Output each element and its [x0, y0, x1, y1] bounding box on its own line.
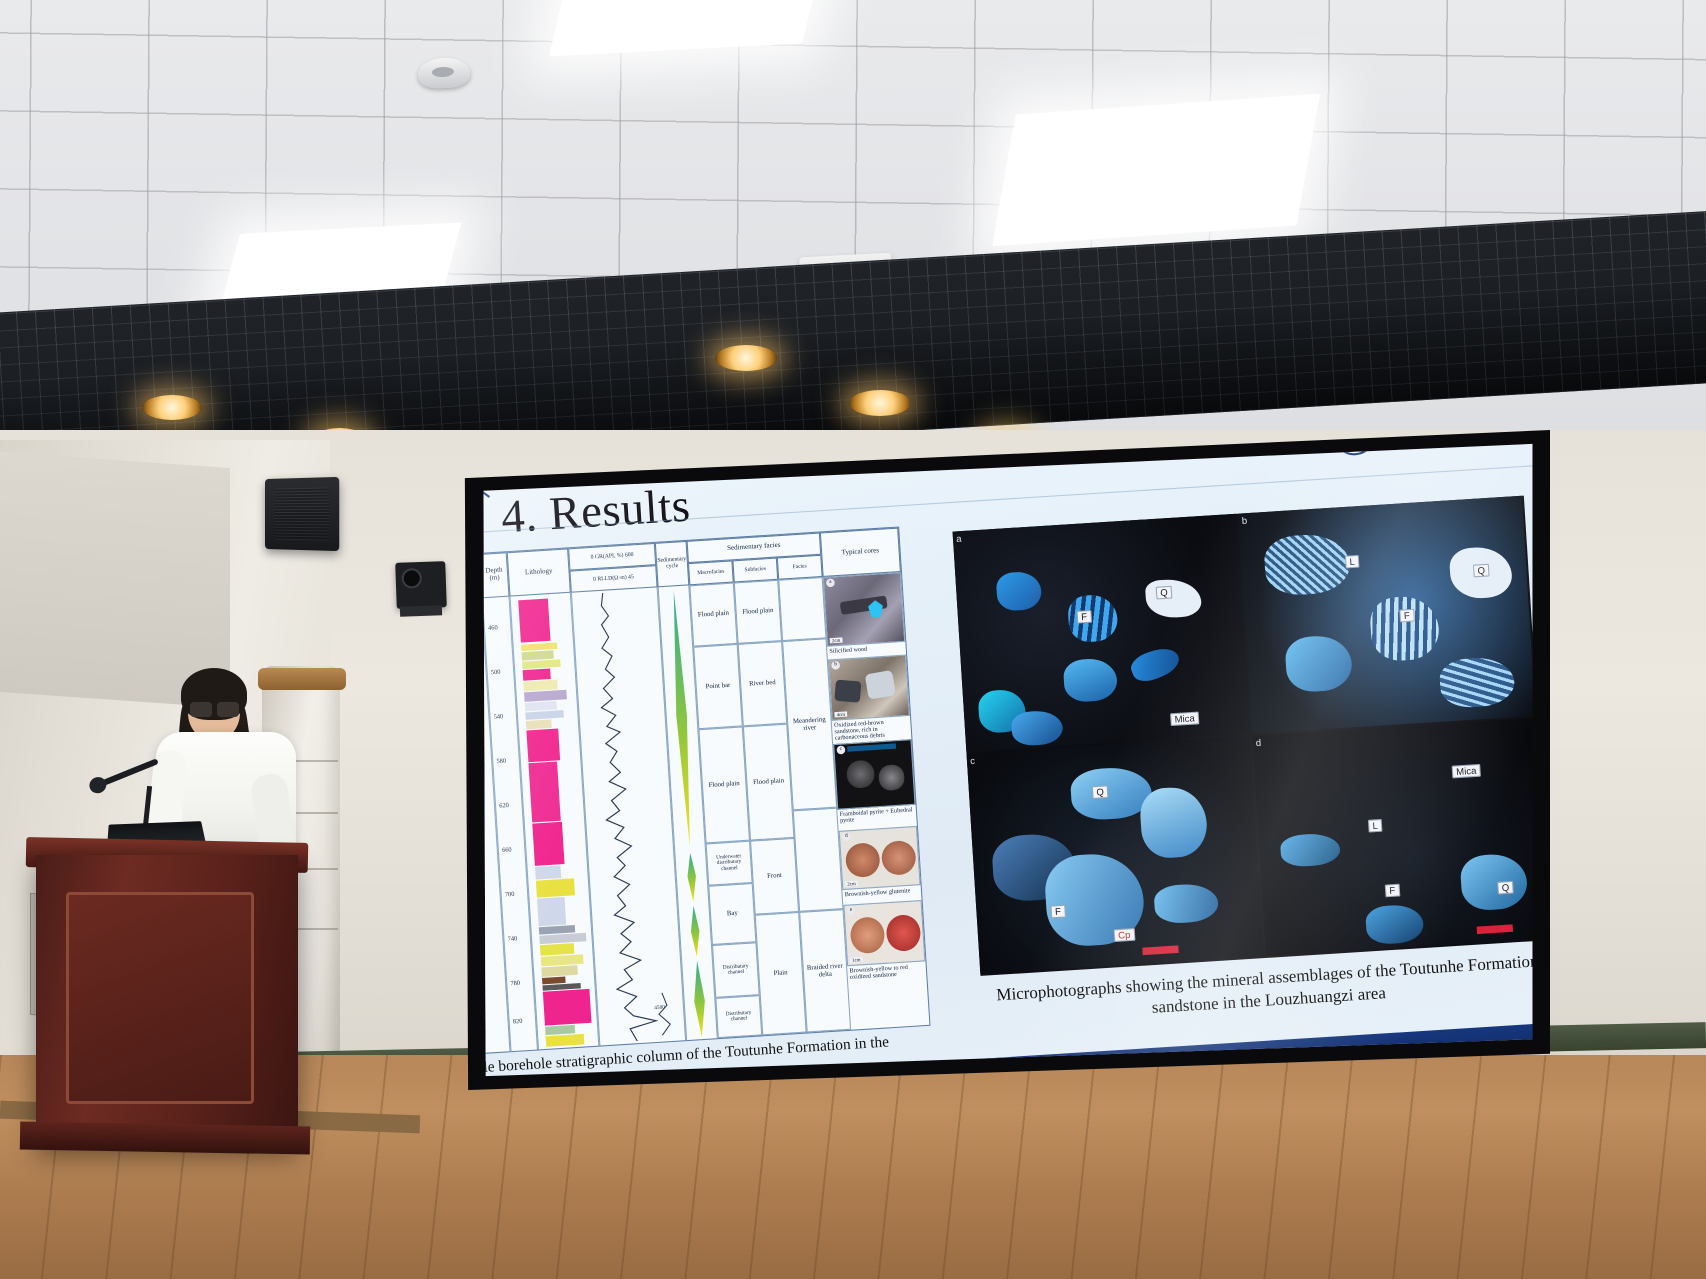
header-facies: Facies — [777, 555, 823, 580]
macrofacies-cell: Point bar — [693, 644, 743, 729]
depth-tick: 700 — [505, 892, 515, 899]
header-typical-cores: Typical cores — [820, 528, 901, 577]
subfacies-cell: Flood plain — [734, 580, 782, 644]
label-Cp: Cp — [1114, 928, 1135, 942]
label-Q: Q — [1473, 564, 1490, 578]
mineral-grain-quartz — [1145, 578, 1202, 620]
core-photo-e: e 1cm — [843, 900, 925, 966]
microphoto-a: a F Q Mica — [953, 514, 1250, 752]
panel-tag: c — [970, 755, 975, 766]
camera-mount-arm — [400, 605, 442, 616]
facies-cell: Braided river delta — [799, 909, 851, 1032]
scale-bar-label: 2cm — [845, 881, 858, 887]
core-caption-a: Silicified wood — [829, 646, 867, 655]
mineral-grain-feldspar — [1369, 595, 1441, 663]
scale-bar — [1477, 924, 1513, 934]
wall-speaker — [265, 477, 339, 551]
lithology-bed — [518, 598, 550, 642]
depth-tick: 780 — [510, 980, 520, 987]
slide-content: 4. Results 中国石油大学 CHINA UNIVERSITY OF PE… — [396, 388, 1598, 1159]
microphoto-b: b L F Q — [1238, 496, 1535, 734]
lecture-hall-photo: 4. Results 中国石油大学 CHINA UNIVERSITY OF PE… — [0, 0, 1706, 1279]
core-plug — [845, 842, 881, 878]
wall-camera — [395, 561, 447, 609]
core-tag: b — [831, 661, 840, 670]
depth-tick: 500 — [491, 669, 501, 676]
core-plug — [881, 840, 917, 876]
panel-tag: a — [956, 533, 962, 544]
depth-tick: 460 — [488, 625, 498, 632]
core-tag: a — [826, 578, 835, 587]
mineral-grain — [1063, 657, 1119, 703]
subfacies-cell: Flood plain — [743, 724, 795, 841]
mineral-grain — [1280, 832, 1341, 867]
mineral-grain — [1011, 710, 1064, 747]
macrofacies-cell: Underwater distributary channel — [706, 841, 753, 886]
macrofacies-cell: Distributary channel — [715, 995, 762, 1038]
mineral-grain — [1459, 852, 1528, 911]
label-F: F — [1050, 905, 1065, 919]
depth-tick: 740 — [508, 936, 518, 943]
glasses-icon — [190, 702, 238, 715]
depth-tick: 660 — [502, 847, 512, 854]
subfacies-cell: Front — [750, 838, 799, 915]
subfacies-cell: River bed — [738, 641, 788, 726]
panel-tag: d — [1255, 737, 1261, 748]
lithology-bed — [540, 943, 575, 956]
ceiling-downlight — [142, 395, 202, 420]
lithology-bed — [532, 822, 564, 866]
lithology-bed — [535, 865, 561, 879]
mineral-grain — [1153, 882, 1219, 924]
lithology-bed — [543, 989, 592, 1026]
left-wall-panel — [0, 452, 230, 708]
stratigraphic-column-figure: Formation Depth (m) Lithology 0 GR(API, … — [442, 526, 930, 1054]
mineral-grain — [1139, 786, 1209, 860]
ceiling-light-panel — [992, 94, 1320, 247]
mineral-grain — [996, 571, 1043, 612]
lithology-bed — [523, 668, 551, 680]
lithology-bed — [526, 728, 560, 762]
log-value-label: 4500 — [654, 1005, 665, 1011]
core-photo-a: a 2cm — [823, 572, 906, 647]
mineral-grain — [1128, 643, 1183, 687]
mineral-grain-feldspar — [1067, 594, 1119, 644]
core-plug — [849, 916, 885, 954]
lithology-bed — [528, 761, 560, 822]
depth-tick: 580 — [496, 758, 506, 765]
label-F: F — [1399, 609, 1414, 623]
header-lithology: Lithology — [507, 548, 571, 596]
slide-surface: 4. Results 中国石油大学 CHINA UNIVERSITY OF PE… — [455, 430, 1550, 1090]
macrofacies-cell: Flood plain — [689, 583, 737, 647]
core-plug — [885, 914, 921, 952]
macrofacies-cell: Flood plain — [698, 726, 750, 843]
macrofacies-cell: Distributary channel — [712, 942, 760, 998]
lithology-bed — [536, 878, 575, 897]
scale-bar-label: 2cm — [830, 637, 843, 643]
macrofacies-cell: Bay — [708, 883, 756, 945]
podium-front-panel — [66, 892, 254, 1104]
header-cycle: Sedimentary cycle — [655, 541, 690, 587]
facies-cell — [778, 577, 826, 641]
podium-base — [20, 1121, 310, 1154]
depth-tick: 620 — [499, 803, 509, 810]
core-caption-b: Oxidized red-brown sandstone, rich in ca… — [834, 718, 909, 742]
scale-bar — [1142, 945, 1178, 955]
depth-tick: 820 — [513, 1019, 523, 1026]
scale-bar-label: 1cm — [850, 957, 863, 963]
label-Mica: Mica — [1452, 764, 1481, 778]
depth-tick: 540 — [494, 714, 504, 721]
panel-tag: b — [1241, 515, 1247, 526]
mineral-grain-lithic — [1263, 532, 1351, 597]
core-caption-c: Framboidal pyrite + Euhedral pyrite — [840, 807, 915, 825]
lithology-bed — [526, 719, 552, 729]
core-caption-e: Brownish-yellow to red oxidized sandston… — [849, 964, 924, 982]
ceiling-downlight — [849, 390, 911, 416]
label-Q: Q — [1156, 586, 1173, 600]
pyrite-euhedral — [878, 764, 905, 791]
lithology-bed — [537, 897, 566, 926]
mineral-grain — [1365, 904, 1425, 946]
label-Q: Q — [1092, 785, 1109, 799]
clast — [834, 680, 861, 703]
ceiling-downlight — [715, 345, 777, 371]
label-L: L — [1345, 555, 1360, 569]
microphoto-d: d L Mica F Q — [1252, 718, 1549, 956]
core-photo-b: b 4cm — [828, 655, 910, 721]
core-tag: e — [847, 906, 856, 915]
label-L: L — [1368, 819, 1383, 833]
projection-screen[interactable]: 4. Results 中国石油大学 CHINA UNIVERSITY OF PE… — [455, 430, 1550, 1090]
pyrite-framboid — [846, 760, 875, 789]
core-tag: d — [842, 832, 851, 841]
scale-bar-label: 4cm — [834, 711, 847, 717]
mineral-grain — [1284, 634, 1353, 693]
clast — [865, 670, 896, 700]
subfacies-cell: Plain — [755, 912, 807, 1035]
microphotographs-figure: a F Q Mica b — [953, 496, 1552, 976]
mineral-grain — [1439, 656, 1516, 709]
label-F: F — [1076, 610, 1091, 624]
microphoto-c: c Q F Cp — [967, 736, 1264, 974]
core-photo-d: d 2cm — [839, 826, 921, 890]
core-tag: c — [836, 745, 845, 754]
label-Mica: Mica — [1170, 712, 1199, 726]
label-F: F — [1385, 884, 1400, 898]
facies-cell — [793, 808, 844, 912]
strat-table: Formation Depth (m) Lithology 0 GR(API, … — [443, 528, 929, 1054]
header-macrofacies: Macrofacies — [688, 560, 734, 585]
label-Q: Q — [1497, 881, 1514, 895]
scale-bar — [847, 743, 896, 751]
header-subfacies: Subfacies — [732, 558, 778, 583]
core-photo-c: c — [833, 739, 915, 810]
